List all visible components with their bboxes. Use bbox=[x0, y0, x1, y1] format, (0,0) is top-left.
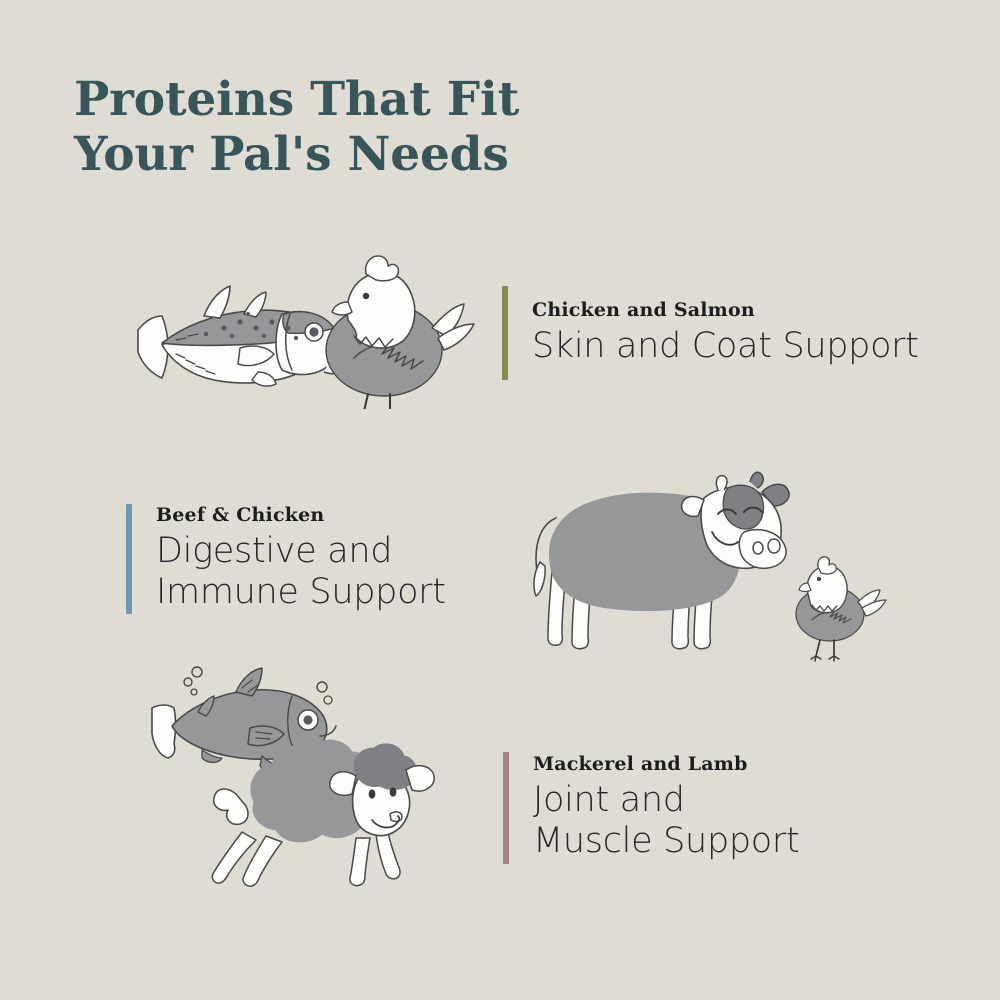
salmon-icon bbox=[138, 286, 354, 386]
block-eyebrow-beef-and-chicken: Beef & Chicken bbox=[156, 504, 446, 528]
chicken-icon bbox=[326, 256, 474, 409]
fish-and-chicken-illustration bbox=[132, 244, 482, 409]
block-eyebrow-chicken-and-salmon: Chicken and Salmon bbox=[532, 299, 919, 323]
chicken-icon bbox=[796, 557, 886, 661]
block-text: Mackerel and Lamb Joint and Muscle Suppo… bbox=[509, 752, 799, 864]
block-headline-chicken-and-salmon: Skin and Coat Support bbox=[532, 326, 919, 367]
block-headline-beef-and-chicken: Digestive and Immune Support bbox=[156, 531, 446, 614]
info-block-beef-and-chicken: Beef & Chicken Digestive and Immune Supp… bbox=[126, 504, 446, 614]
block-headline-mackerel-and-lamb: Joint and Muscle Support bbox=[533, 780, 799, 863]
info-block-mackerel-and-lamb: Mackerel and Lamb Joint and Muscle Suppo… bbox=[503, 752, 799, 864]
cow-and-chicken-illustration bbox=[512, 466, 912, 666]
block-text: Chicken and Salmon Skin and Coat Support bbox=[508, 286, 919, 380]
cow-icon bbox=[534, 472, 789, 648]
page-title: Proteins That Fit Your Pal's Needs bbox=[74, 72, 694, 183]
block-eyebrow-mackerel-and-lamb: Mackerel and Lamb bbox=[533, 753, 799, 777]
info-block-chicken-and-salmon: Chicken and Salmon Skin and Coat Support bbox=[502, 286, 919, 380]
block-text: Beef & Chicken Digestive and Immune Supp… bbox=[132, 504, 446, 614]
mackerel-and-lamb-illustration bbox=[150, 656, 510, 891]
lamb-icon bbox=[212, 740, 434, 886]
infographic-canvas: Proteins That Fit Your Pal's Needs bbox=[0, 0, 1000, 1000]
